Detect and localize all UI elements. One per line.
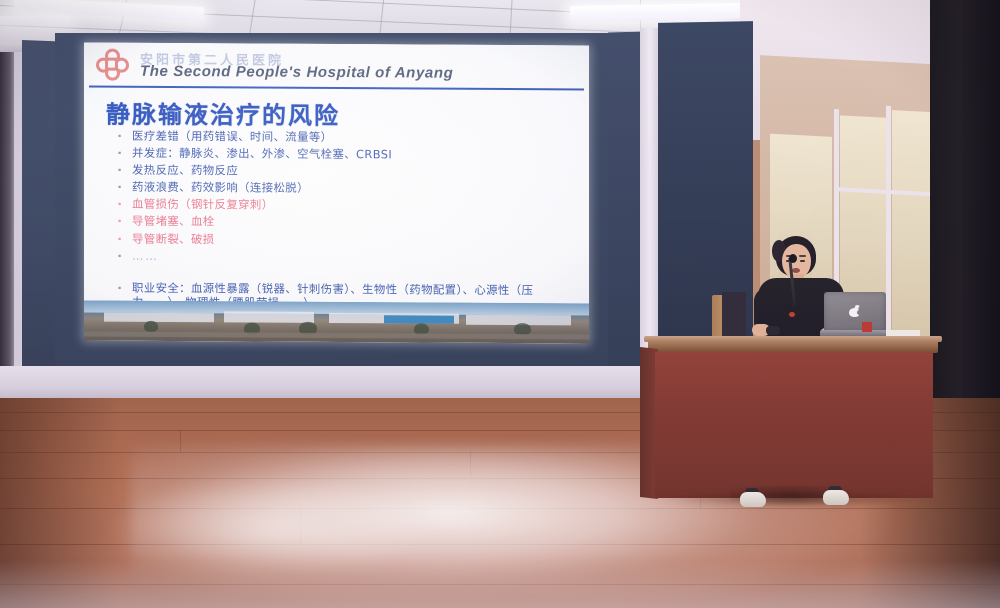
slide-footer-campus-photo [84,300,589,343]
bullet-text: 并发症：静脉炎、渗出、外渗、空气栓塞、CRBSI [132,146,392,162]
presenter-remote[interactable] [766,326,780,335]
bullet-marker: ▪ [118,248,132,262]
shoe [740,492,766,507]
bullet-marker: ▪ [118,163,132,177]
bullet-item-risk: ▪血管损伤（钢针反复穿刺） [118,197,568,214]
ceiling-light-panel [0,16,70,26]
slide-header: 安阳市第二人民医院 The Second People's Hospital o… [84,42,589,88]
bullet-item-risk: ▪导管堵塞、血栓 [118,214,568,231]
bullet-item-ellipsis: ▪…… [118,248,568,265]
bullet-text: 发热反应、药物反应 [132,163,238,178]
chair-backrest [722,292,746,342]
wall-baseboard [0,366,700,402]
window-mullion [886,106,891,356]
bullet-marker: ▪ [118,231,132,245]
bullet-text: …… [132,248,159,263]
shoe [823,490,849,505]
bullet-text: 导管堵塞、血栓 [132,214,215,229]
hospital-cross-flower-logo [96,49,130,81]
photo-building [224,311,314,323]
photo-road [84,331,589,339]
bullet-item: ▪医疗差错（用药错误、时间、流量等） [118,129,568,146]
hospital-name-en: The Second People's Hospital of Anyang [140,63,453,82]
wooden-podium-desk [655,352,933,498]
photo-tree [144,321,158,332]
apple-logo [849,305,860,317]
bullet-item: ▪并发症：静脉炎、渗出、外渗、空气栓塞、CRBSI [118,146,568,163]
photo-building [104,313,214,323]
bullet-marker: ▪ [118,129,132,143]
microphone-indicator-light [789,312,795,317]
conference-room-photo: 安阳市第二人民医院 The Second People's Hospital o… [0,0,1000,608]
bullet-item-risk: ▪导管断裂、破损 [118,231,568,248]
macbook-silver[interactable] [824,292,886,332]
bullet-text: 医疗差错（用药错误、时间、流量等） [132,129,332,145]
left-wall-dark-edge [0,52,14,412]
slide-title: 静脉输液治疗的风险 [106,95,340,131]
bullet-text: 血管损伤（钢针反复穿刺） [132,197,274,212]
bullet-item: ▪发热反应、药物反应 [118,163,568,180]
bullet-marker: ▪ [118,197,132,211]
photo-building [384,315,454,323]
projection-screen[interactable]: 安阳市第二人民医院 The Second People's Hospital o… [84,42,589,343]
bullet-item: ▪药液浪费、药效影响（连接松脱） [118,180,568,197]
bullet-text: 药液浪费、药效影响（连接松脱） [132,180,309,196]
bullet-marker: ▪ [118,180,132,194]
bullet-text: 导管断裂、破损 [132,231,215,246]
bullet-marker: ▪ [118,214,132,228]
floor-foreground-haze [0,560,1000,608]
bullet-marker: ▪ [118,280,132,294]
red-object-on-desk [862,322,872,332]
presentation-slide: 安阳市第二人民医院 The Second People's Hospital o… [84,42,589,343]
microphone-capsule [789,254,797,263]
bullet-marker: ▪ [118,146,132,160]
mouth [792,268,800,273]
